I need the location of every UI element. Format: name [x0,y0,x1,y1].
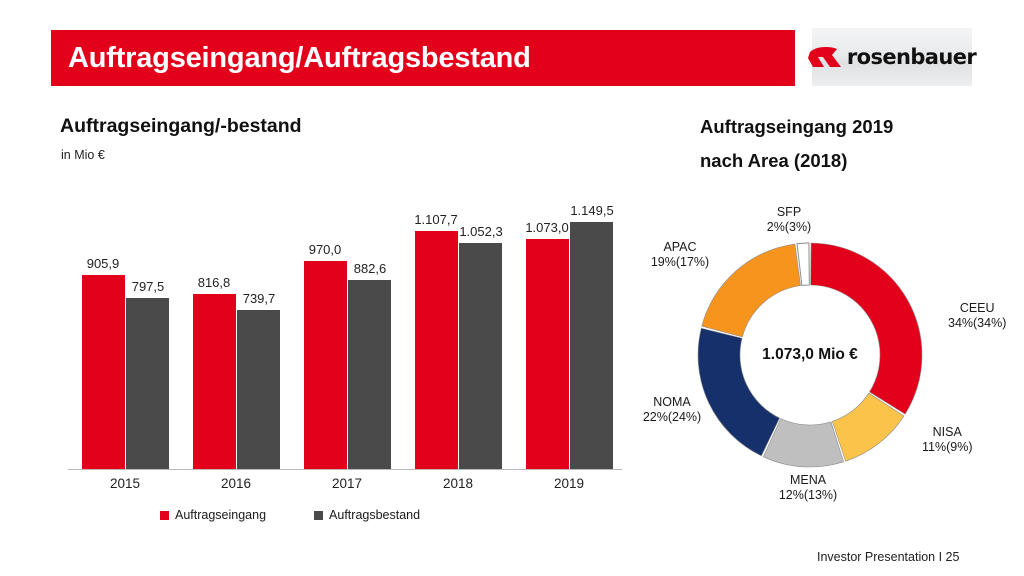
bar-group: 970,0882,6 [304,190,390,469]
donut-heading-line2: nach Area (2018) [700,150,847,172]
donut-svg [690,235,930,475]
bar-auftragsbestand-2019 [570,222,613,469]
donut-label-apac: APAC19%(17%) [651,240,709,270]
bar-value-label: 739,7 [243,291,276,306]
bar-auftragsbestand-2018 [459,243,502,469]
footer-text: Investor Presentation I 25 [817,550,959,564]
donut-label-name: APAC [651,240,709,255]
donut-label-name: CEEU [948,301,1006,316]
legend-item-auftragseingang[interactable]: Auftragseingang [160,508,266,522]
bar-auftragseingang-2015 [82,275,125,469]
legend-item-auftragsbestand[interactable]: Auftragsbestand [314,508,420,522]
donut-label-name: MENA [779,473,837,488]
legend-swatch-icon [314,511,323,520]
bar-chart-heading: Auftragseingang/-bestand [60,115,302,138]
bar-value-label: 1.149,5 [570,203,613,218]
donut-label-percent: 11%(9%) [922,440,972,455]
donut-slice-noma[interactable] [698,328,780,456]
bar-chart: 905,9797,5816,8739,7970,0882,61.107,71.0… [52,190,622,475]
donut-label-sfp: SFP2%(3%) [767,205,811,235]
bar-auftragsbestand-2017 [348,280,391,469]
bar-value-label: 1.107,7 [414,212,457,227]
x-axis-tick-2018: 2018 [443,476,473,491]
donut-label-percent: 19%(17%) [651,255,709,270]
donut-label-percent: 12%(13%) [779,488,837,503]
donut-label-noma: NOMA22%(24%) [643,395,701,425]
bar-auftragseingang-2019 [526,239,569,469]
bar-auftragseingang-2018 [415,231,458,469]
donut-label-percent: 22%(24%) [643,410,701,425]
legend-label: Auftragsbestand [329,508,420,522]
page-title: Auftragseingang/Auftragsbestand [51,42,531,75]
bar-group: 1.107,71.052,3 [415,190,501,469]
bar-chart-legend: AuftragseingangAuftragsbestand [160,508,420,522]
donut-label-ceeu: CEEU34%(34%) [948,301,1006,331]
bar-plot-area: 905,9797,5816,8739,7970,0882,61.107,71.0… [68,190,622,470]
bar-group: 905,9797,5 [82,190,168,469]
bar-auftragsbestand-2016 [237,310,280,469]
legend-label: Auftragseingang [175,508,266,522]
donut-chart: 1.073,0 Mio € CEEU34%(34%)NISA11%(9%)MEN… [690,235,930,475]
donut-heading-line1: Auftragseingang 2019 [700,116,893,138]
bar-group: 1.073,01.149,5 [526,190,612,469]
bar-value-label: 816,8 [198,275,231,290]
bar-chart-unit-label: in Mio € [61,148,105,162]
rosenbauer-r-icon [808,46,842,68]
x-axis-tick-2017: 2017 [332,476,362,491]
logo-wordmark: rosenbauer [847,45,976,69]
x-axis-tick-2016: 2016 [221,476,251,491]
donut-label-nisa: NISA11%(9%) [922,425,972,455]
donut-label-name: NISA [922,425,972,440]
donut-label-mena: MENA12%(13%) [779,473,837,503]
bar-value-label: 1.052,3 [459,224,502,239]
legend-swatch-icon [160,511,169,520]
page-title-bar: Auftragseingang/Auftragsbestand [51,30,795,86]
bar-auftragseingang-2017 [304,261,347,469]
bar-value-label: 905,9 [87,256,120,271]
donut-label-name: NOMA [643,395,701,410]
bar-value-label: 970,0 [309,242,342,257]
bar-value-label: 797,5 [132,279,165,294]
donut-label-name: SFP [767,205,811,220]
bar-auftragsbestand-2015 [126,298,169,469]
bar-value-label: 882,6 [354,261,387,276]
x-axis-tick-2019: 2019 [554,476,584,491]
bar-value-label: 1.073,0 [525,220,568,235]
company-logo: rosenbauer [812,28,972,86]
donut-slice-apac[interactable] [702,244,801,337]
donut-slice-ceeu[interactable] [811,243,922,414]
donut-label-percent: 2%(3%) [767,220,811,235]
x-axis-line [68,469,622,470]
bar-group: 816,8739,7 [193,190,279,469]
bar-auftragseingang-2016 [193,294,236,469]
donut-label-percent: 34%(34%) [948,316,1006,331]
x-axis-tick-2015: 2015 [110,476,140,491]
